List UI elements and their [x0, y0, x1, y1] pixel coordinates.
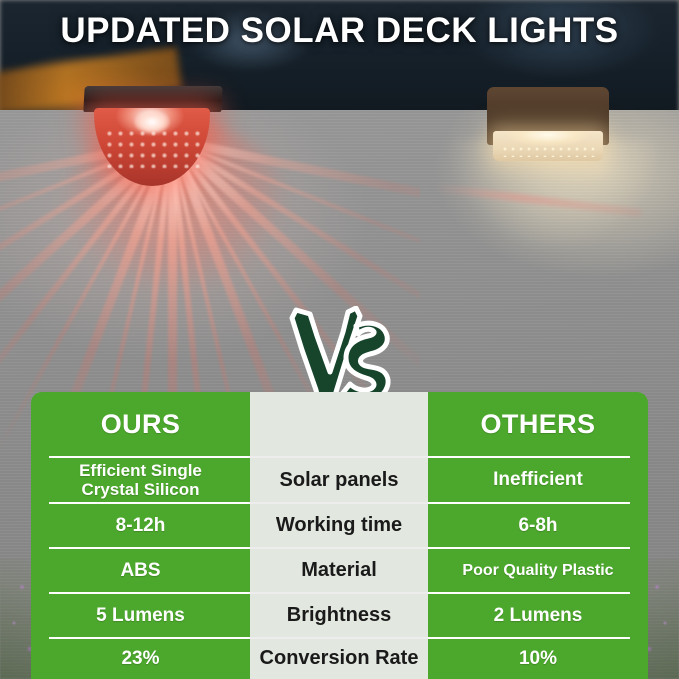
row-working-time-ours: 8-12h — [31, 503, 250, 548]
row-conversion-rate-ours: 23% — [31, 638, 250, 679]
row-solar-panels-feature: Solar panels — [250, 457, 428, 503]
row-brightness-feature: Brightness — [250, 593, 428, 638]
column-header-ours: OURS — [31, 392, 250, 457]
row-solar-panels-ours: Efficient Single Crystal Silicon — [31, 457, 250, 503]
column-header-others: OTHERS — [428, 392, 648, 457]
row-working-time-feature: Working time — [250, 503, 428, 548]
row-solar-panels-others: Inefficient — [428, 457, 648, 503]
row-material-ours: ABS — [31, 548, 250, 593]
row-solar-panels-ours-line2: Crystal Silicon — [81, 480, 199, 499]
row-brightness-others: 2 Lumens — [428, 593, 648, 638]
product-others-photo — [487, 87, 609, 169]
product-ours-photo — [82, 86, 222, 201]
comparison-grid: OURS OTHERS Efficient Single Crystal Sil… — [31, 392, 648, 679]
column-header-feature — [250, 392, 428, 457]
row-solar-panels-ours-line1: Efficient Single — [79, 461, 202, 480]
title-bar: UPDATED SOLAR DECK LIGHTS — [0, 0, 679, 62]
row-conversion-rate-others: 10% — [428, 638, 648, 679]
row-material-others: Poor Quality Plastic — [428, 548, 648, 593]
row-working-time-others: 6-8h — [428, 503, 648, 548]
row-conversion-rate-feature: Conversion Rate — [250, 638, 428, 679]
comparison-table: OURS OTHERS Efficient Single Crystal Sil… — [31, 392, 648, 679]
page-title: UPDATED SOLAR DECK LIGHTS — [60, 11, 618, 51]
ours-led-beads — [104, 128, 200, 168]
product-comparison-infographic: UPDATED SOLAR DECK LIGHTS OURS OTHERS Ef… — [0, 0, 679, 679]
row-material-feature: Material — [250, 548, 428, 593]
row-brightness-ours: 5 Lumens — [31, 593, 250, 638]
others-led-beads — [501, 145, 595, 157]
